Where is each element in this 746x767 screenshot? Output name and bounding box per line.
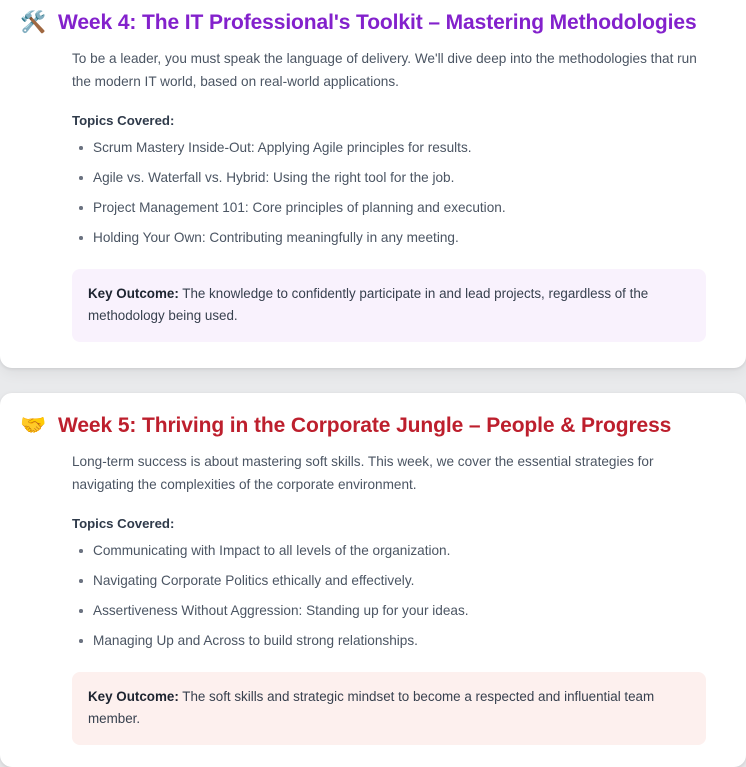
week-4-intro-paragraph: To be a leader, you must speak the langu… [72,47,706,93]
week-4-title: Week 4: The IT Professional's Toolkit – … [58,8,726,37]
week-4-body: To be a leader, you must speak the langu… [20,47,726,342]
week-5-title: Week 5: Thriving in the Corporate Jungle… [58,411,726,440]
list-item: Assertiveness Without Aggression: Standi… [72,601,706,620]
week-5-key-outcome: Key Outcome: The soft skills and strateg… [72,672,706,745]
week-5-header: 🤝 Week 5: Thriving in the Corporate Jung… [20,411,726,440]
curriculum-week-list: 🛠️ Week 4: The IT Professional's Toolkit… [0,0,746,724]
week-5-topic-list: Communicating with Impact to all levels … [72,541,706,650]
week-5-key-outcome-label: Key Outcome: [88,689,179,704]
list-item: Managing Up and Across to build strong r… [72,631,706,650]
week-4-topic-list: Scrum Mastery Inside-Out: Applying Agile… [72,138,706,247]
list-item: Holding Your Own: Contributing meaningfu… [72,228,706,247]
hammer-and-wrench-icon: 🛠️ [20,8,46,37]
list-item: Navigating Corporate Politics ethically … [72,571,706,590]
handshake-icon: 🤝 [20,411,46,440]
card-separator [0,368,746,393]
week-4-header: 🛠️ Week 4: The IT Professional's Toolkit… [20,8,726,37]
list-item: Agile vs. Waterfall vs. Hybrid: Using th… [72,168,706,187]
week-card-week-5: 🤝 Week 5: Thriving in the Corporate Jung… [0,393,746,767]
list-item: Project Management 101: Core principles … [72,198,706,217]
week-4-key-outcome-label: Key Outcome: [88,286,179,301]
list-item: Scrum Mastery Inside-Out: Applying Agile… [72,138,706,157]
week-4-key-outcome: Key Outcome: The knowledge to confidentl… [72,269,706,342]
week-4-topics-label: Topics Covered: [72,113,706,128]
list-item: Communicating with Impact to all levels … [72,541,706,560]
week-5-body: Long-term success is about mastering sof… [20,450,726,745]
week-card-week-4: 🛠️ Week 4: The IT Professional's Toolkit… [0,0,746,368]
week-5-topics-label: Topics Covered: [72,516,706,531]
week-5-intro-paragraph: Long-term success is about mastering sof… [72,450,706,496]
